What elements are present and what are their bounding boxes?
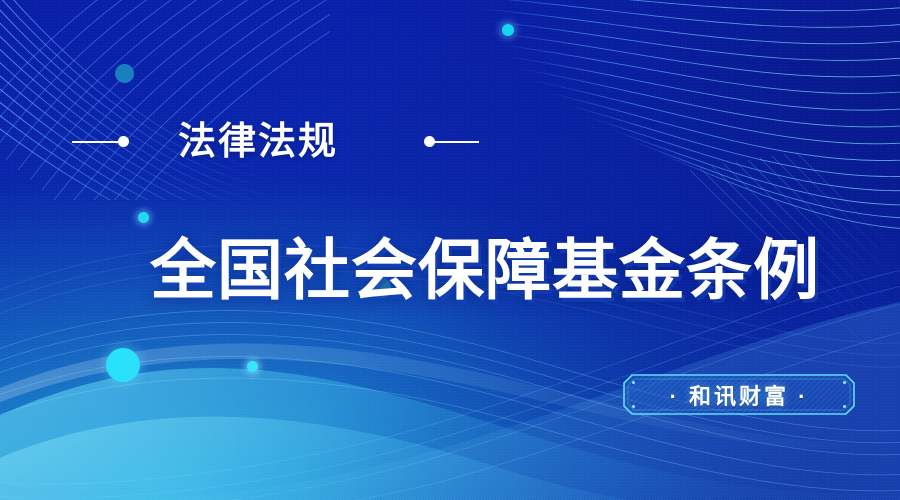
subtitle-rule-right	[434, 141, 479, 143]
decorative-circle-cyan-left	[138, 212, 149, 223]
subtitle-row: 法律法规	[0, 118, 900, 166]
decorative-circle-cyan-small-mid	[247, 361, 258, 372]
decorative-circle-steel-top	[115, 64, 134, 83]
page-title: 全国社会保障基金条例	[150, 232, 820, 308]
decorative-circle-cyan-large	[106, 348, 140, 382]
decorative-circle-cyan-top	[502, 24, 514, 36]
subtitle-text: 法律法规	[178, 118, 338, 166]
subtitle-rule-left	[72, 141, 119, 143]
banner-poster: 法律法规 全国社会保障基金条例	[0, 0, 900, 500]
brand-badge: · 和讯财富 ·	[623, 374, 855, 415]
badge-label: · 和讯财富 ·	[623, 374, 855, 415]
subtitle-dot-left	[118, 136, 129, 147]
